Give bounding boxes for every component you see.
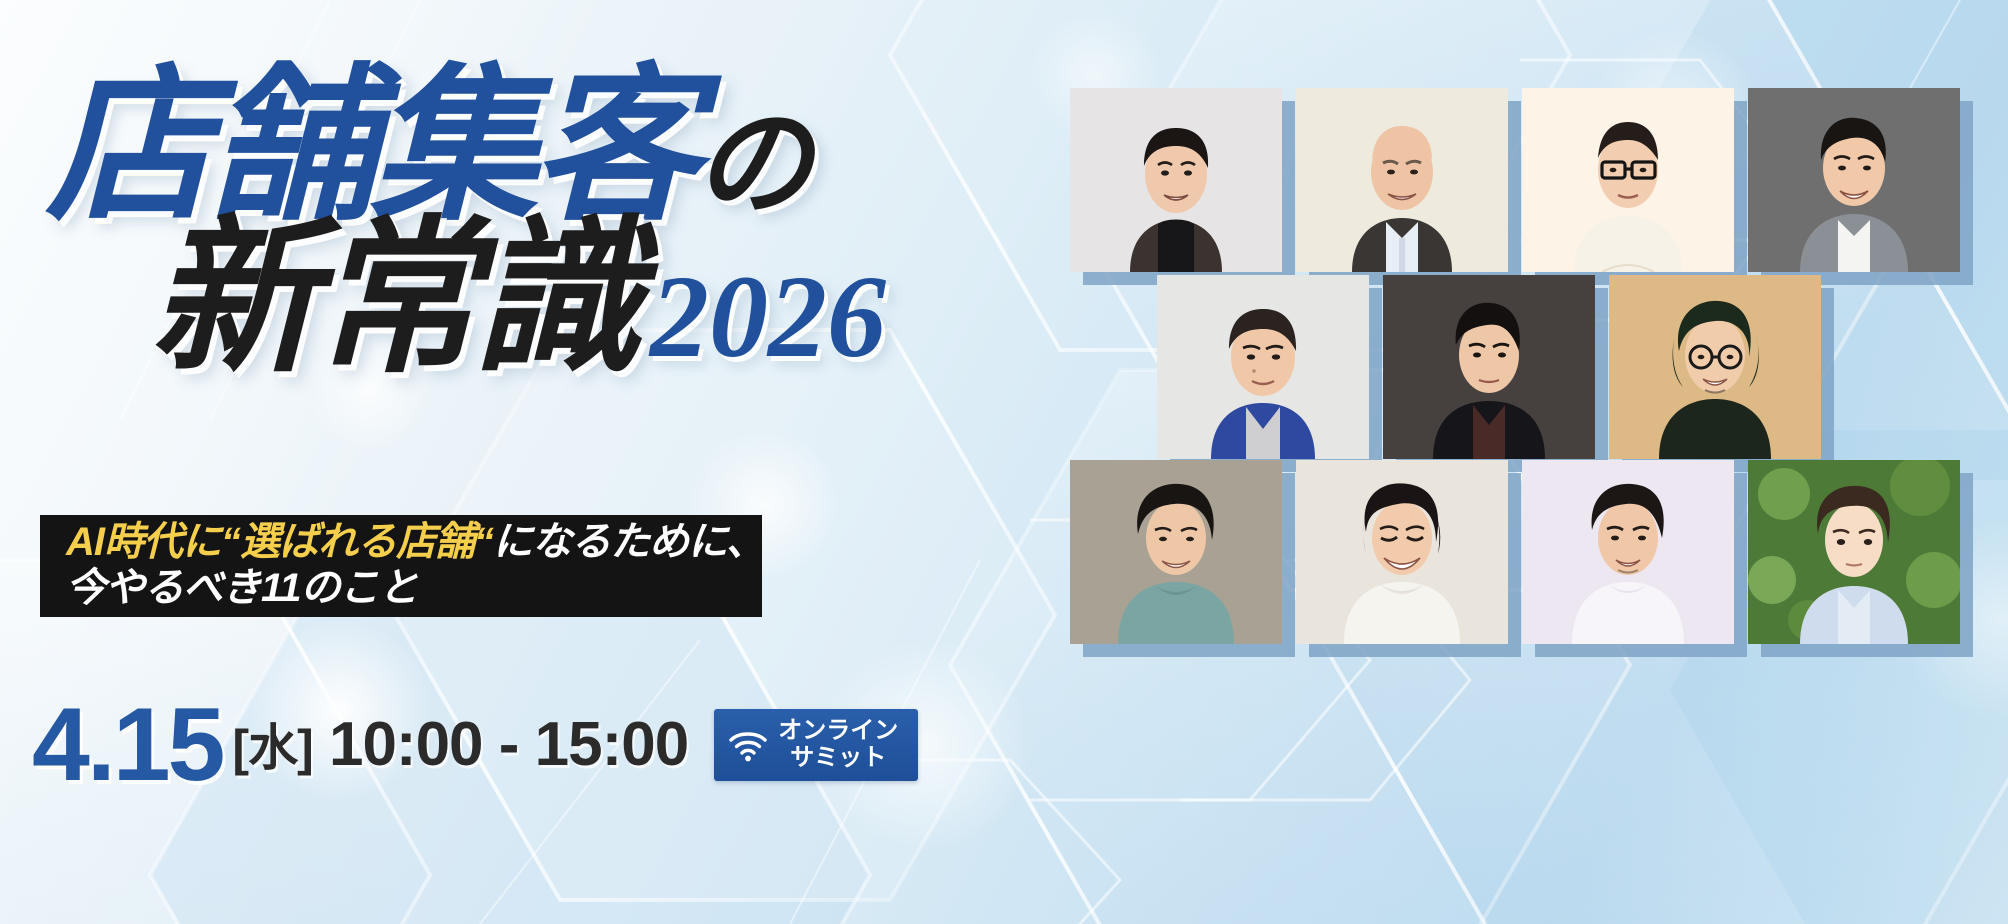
speaker-row — [1070, 460, 1960, 644]
speaker-photo-grid — [1060, 50, 2008, 924]
portrait — [1522, 88, 1734, 272]
title-year: 2026 — [650, 251, 886, 382]
event-time-group: [水] 10:00 - 15:00 — [232, 714, 688, 776]
subtitle-line-1-rest: になるために、 — [493, 520, 765, 564]
portrait — [1070, 88, 1282, 272]
portrait — [1748, 460, 1960, 644]
online-summit-badge: オンライン サミット — [714, 709, 918, 781]
portrait — [1609, 275, 1821, 459]
event-date: 4.15 — [32, 693, 222, 797]
event-time: 10:00 - 15:00 — [329, 710, 688, 779]
speaker-photo-8 — [1070, 460, 1282, 644]
speaker-photo-5 — [1157, 275, 1369, 459]
portrait — [1157, 275, 1369, 459]
speaker-photo-6 — [1383, 275, 1595, 459]
event-title: 店舗集客の 新常識2026 — [38, 62, 998, 382]
subtitle-line-1: AI時代に“選ばれる店舗“になるために、 — [66, 519, 762, 565]
speaker-photo-7 — [1609, 275, 1821, 459]
title-line-2: 新常識2026 — [38, 214, 998, 382]
badge-label: オンライン サミット — [778, 718, 898, 772]
portrait — [1296, 88, 1508, 272]
wifi-dot — [745, 756, 751, 762]
speaker-photo-2 — [1296, 88, 1508, 272]
event-day-of-week: [水] — [232, 720, 312, 776]
speaker-photo-3 — [1522, 88, 1734, 272]
title-particle-no: の — [694, 98, 810, 230]
speaker-photo-4 — [1748, 88, 1960, 272]
portrait — [1296, 460, 1508, 644]
portrait — [1522, 460, 1734, 644]
event-date-row: 4.15 [水] 10:00 - 15:00 オンライン サミット — [32, 690, 918, 800]
subtitle-highlight: AI時代に“選ばれる店舗“ — [66, 520, 493, 564]
speaker-photo-9 — [1296, 460, 1508, 644]
subtitle-panel: AI時代に“選ばれる店舗“になるために、 今やるべき11のこと — [40, 515, 762, 617]
speaker-row — [1157, 275, 1821, 459]
portrait — [1383, 275, 1595, 459]
banner-text-column: 店舗集客の 新常識2026 AI時代に“選ばれる店舗“になるために、 今やるべき… — [0, 0, 1010, 924]
badge-label-line-1: オンライン — [778, 718, 898, 745]
speaker-photo-11 — [1748, 460, 1960, 644]
portrait — [1748, 88, 1960, 272]
wifi-icon — [728, 728, 768, 762]
portrait — [1070, 460, 1282, 644]
speaker-photo-10 — [1522, 460, 1734, 644]
badge-label-line-2: サミット — [778, 745, 898, 772]
title-main-black: 新常識 — [150, 204, 636, 392]
event-banner: 店舗集客の 新常識2026 AI時代に“選ばれる店舗“になるために、 今やるべき… — [0, 0, 2008, 924]
subtitle-line-2: 今やるべき11のこと — [66, 565, 762, 611]
speaker-row — [1070, 88, 1960, 272]
speaker-photo-1 — [1070, 88, 1282, 272]
